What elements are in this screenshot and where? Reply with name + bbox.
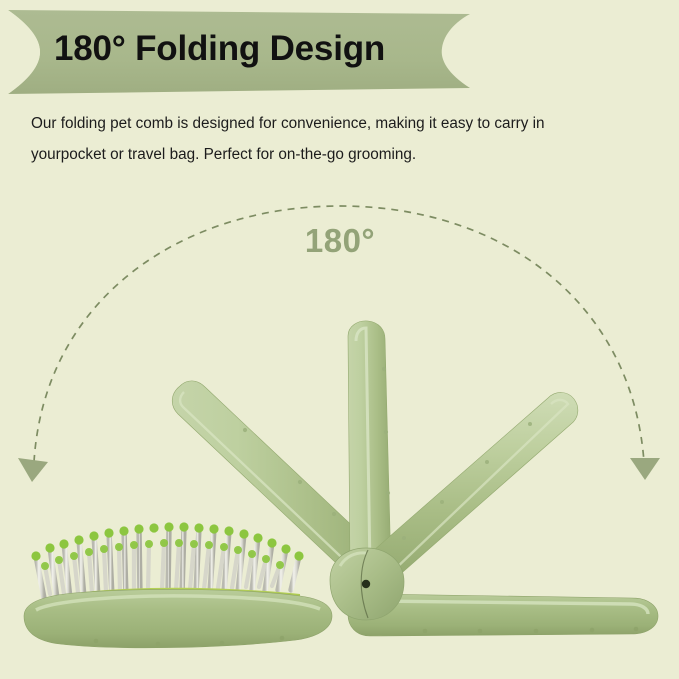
brush-base — [24, 589, 332, 647]
folding-pet-comb — [24, 321, 658, 648]
folding-diagram — [0, 0, 679, 679]
arm-upper-right — [366, 392, 578, 583]
hinge-pivot — [330, 548, 404, 620]
product-infographic: 180° Folding Design Our folding pet comb… — [0, 0, 679, 679]
angle-label: 180° — [292, 222, 388, 260]
arc-arrow-left — [18, 458, 48, 482]
hinge-screw-icon — [362, 580, 370, 588]
arc-arrow-right — [630, 458, 660, 480]
brush-head — [24, 522, 332, 647]
